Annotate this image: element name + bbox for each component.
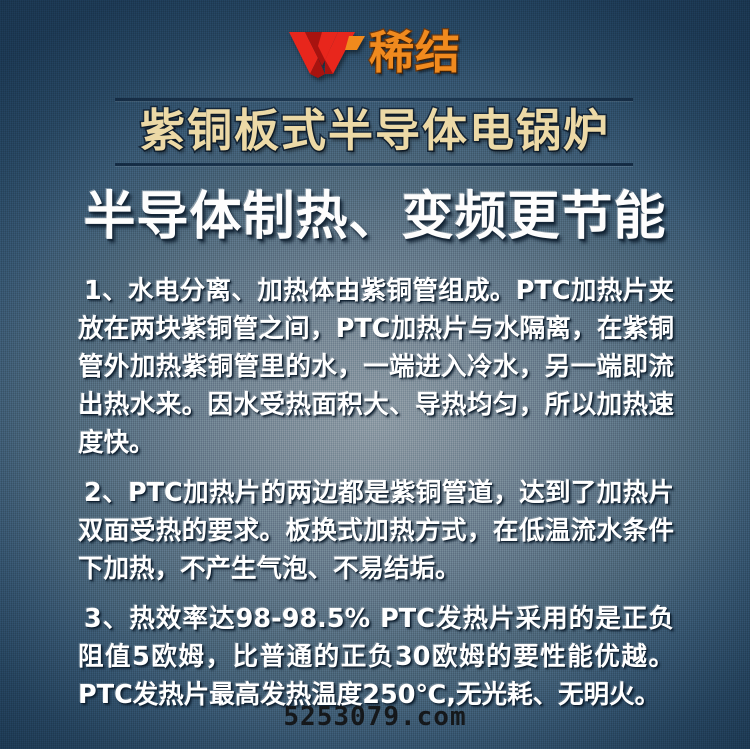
feature-paragraph-2: 2、PTC加热片的两边都是紫铜管道，达到了加热片双面受热的要求。板换式加热方式，… bbox=[78, 474, 674, 588]
feature-paragraph-3: 3、热效率达98-98.5% PTC发热片采用的是正负阻值5欧姆，比普通的正负3… bbox=[78, 600, 674, 714]
brand-logo: 稀结 bbox=[0, 22, 750, 84]
brand-name: 稀结 bbox=[369, 30, 461, 77]
feature-paragraph-1: 1、水电分离、加热体由紫铜管组成。PTC加热片夹放在两块紫铜管之间，PTC加热片… bbox=[78, 272, 674, 462]
product-poster: 稀结 紫铜板式半导体电锅炉 半导体制热、变频更节能 1、水电分离、加热体由紫铜管… bbox=[0, 0, 750, 749]
feature-list: 1、水电分离、加热体由紫铜管组成。PTC加热片夹放在两块紫铜管之间，PTC加热片… bbox=[78, 272, 674, 714]
page-subtitle: 半导体制热、变频更节能 bbox=[0, 184, 750, 250]
xv-mark-icon bbox=[289, 28, 367, 78]
title-rule-bottom bbox=[115, 163, 633, 166]
page-title: 紫铜板式半导体电锅炉 bbox=[0, 101, 750, 161]
footer-website: 5253079.com bbox=[0, 702, 750, 732]
